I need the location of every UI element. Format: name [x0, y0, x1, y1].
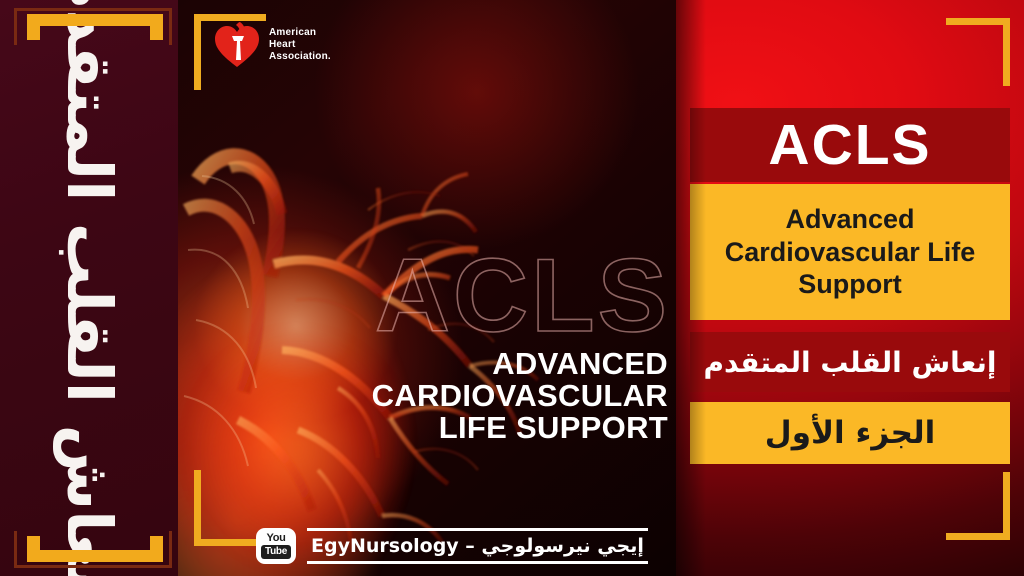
aha-line-heart: Heart [269, 39, 331, 51]
aha-line-association: Association. [269, 51, 331, 63]
caption-line-advanced: ADVANCED [372, 348, 668, 380]
sidebar-vertical-banner: إنعاش القلب المتقدم [0, 0, 178, 576]
right-text-panel: ACLS Advanced Cardiovascular Life Suppor… [676, 0, 1024, 576]
gold-staple-bottom-icon [27, 536, 163, 562]
aha-line-american: American [269, 27, 331, 39]
aha-heart-torch-icon [214, 20, 260, 70]
caption-line-life-support: LIFE SUPPORT [372, 412, 668, 444]
youtube-icon[interactable]: You Tube [256, 528, 296, 564]
channel-credit-bar: You Tube إيجي نيرسولوجي – EgyNursology [256, 528, 648, 564]
acls-caption-block: ADVANCED CARDIOVASCULAR LIFE SUPPORT [372, 348, 668, 445]
american-heart-association-logo: American Heart Association. [214, 20, 331, 70]
subtitle-line-1: Advanced [725, 203, 976, 236]
gold-staple-top-icon [27, 14, 163, 40]
sidebar-vertical-title: إنعاش القلب المتقدم [53, 0, 126, 576]
caption-line-cardiovascular: CARDIOVASCULAR [372, 380, 668, 412]
aha-wordmark: American Heart Association. [269, 27, 331, 64]
divider-top [307, 528, 648, 531]
subtitle-line-2: Cardiovascular Life [725, 236, 976, 269]
acls-subtitle-banner: Advanced Cardiovascular Life Support [690, 184, 1010, 320]
gold-corner-bracket-bottom-right-icon [946, 472, 1010, 540]
acls-poster: إنعاش القلب المتقدم [0, 0, 1024, 576]
channel-name-container: إيجي نيرسولوجي – EgyNursology [307, 528, 648, 564]
acls-watermark: ACLS [375, 244, 670, 348]
channel-name: إيجي نيرسولوجي – EgyNursology [307, 534, 648, 558]
divider-bottom [307, 561, 648, 564]
youtube-tube-text: Tube [261, 545, 291, 559]
sidebar-text-container: إنعاش القلب المتقدم [0, 0, 178, 576]
arabic-title-banner: إنعاش القلب المتقدم [690, 332, 1010, 392]
youtube-you-text: You [266, 533, 285, 544]
acls-title-banner: ACLS [690, 108, 1010, 182]
arabic-part-banner: الجزء الأول [690, 402, 1010, 464]
heart-image-panel: ACLS ADVANCED CARDIOVASCULAR LIFE SUPPOR… [178, 0, 676, 576]
subtitle-line-3: Support [725, 268, 976, 301]
gold-corner-bracket-top-right-icon [946, 18, 1010, 86]
